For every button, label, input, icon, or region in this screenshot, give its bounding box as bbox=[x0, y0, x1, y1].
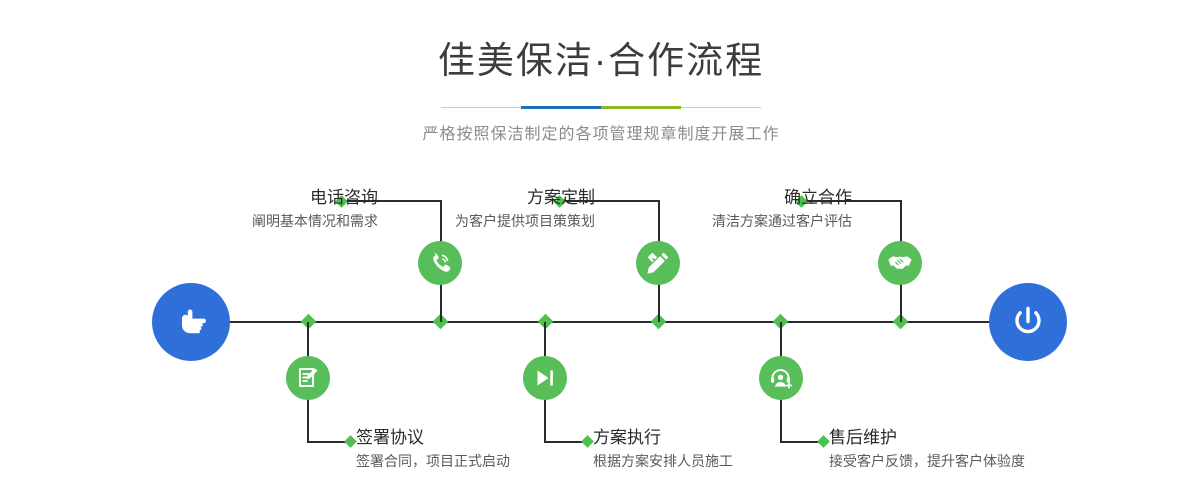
flow-end-node bbox=[989, 283, 1067, 361]
divider-segment-green bbox=[601, 106, 681, 109]
title-divider bbox=[441, 106, 761, 109]
step-title-3: 方案定制 bbox=[455, 188, 595, 208]
step-desc-2: 签署合同，项目正式启动 bbox=[356, 451, 510, 471]
step-title-1: 电话咨询 bbox=[252, 188, 378, 208]
step-desc-6: 接受客户反馈，提升客户体验度 bbox=[829, 451, 1025, 471]
step-label-6: 售后维护 接受客户反馈，提升客户体验度 bbox=[829, 428, 1025, 471]
step-title-4: 方案执行 bbox=[593, 428, 733, 448]
step-node-6[interactable] bbox=[759, 356, 803, 400]
step-node-2[interactable] bbox=[286, 356, 330, 400]
step-title-2: 签署协议 bbox=[356, 428, 510, 448]
step-label-1: 电话咨询 阐明基本情况和需求 bbox=[252, 188, 378, 231]
step-node-4[interactable] bbox=[523, 356, 567, 400]
play-execute-icon bbox=[532, 365, 558, 391]
step-node-1[interactable] bbox=[418, 241, 462, 285]
step-desc-3: 为客户提供项目策策划 bbox=[455, 211, 595, 231]
handshake-icon bbox=[886, 249, 914, 277]
step-node-5[interactable] bbox=[878, 241, 922, 285]
document-edit-icon bbox=[295, 365, 321, 391]
power-icon bbox=[1007, 301, 1049, 343]
step-label-2: 签署协议 签署合同，项目正式启动 bbox=[356, 428, 510, 471]
divider-segment-blue bbox=[521, 106, 601, 109]
step-label-4: 方案执行 根据方案安排人员施工 bbox=[593, 428, 733, 471]
step-desc-4: 根据方案安排人员施工 bbox=[593, 451, 733, 471]
customer-service-icon bbox=[768, 365, 794, 391]
step-desc-5: 清洁方案通过客户评估 bbox=[712, 211, 852, 231]
pencil-ruler-icon bbox=[645, 250, 671, 276]
header: 佳美保洁·合作流程 严格按照保洁制定的各项管理规章制度开展工作 bbox=[0, 0, 1202, 144]
step-title-5: 确立合作 bbox=[712, 188, 852, 208]
step-label-3: 方案定制 为客户提供项目策策划 bbox=[455, 188, 595, 231]
pointing-hand-icon bbox=[171, 302, 211, 342]
step-desc-1: 阐明基本情况和需求 bbox=[252, 211, 378, 231]
process-flow-infographic: 佳美保洁·合作流程 严格按照保洁制定的各项管理规章制度开展工作 bbox=[0, 0, 1202, 502]
flow-start-node bbox=[152, 283, 230, 361]
label-tip-diamond-step-6 bbox=[817, 435, 830, 448]
phone-call-icon bbox=[427, 250, 453, 276]
step-node-3[interactable] bbox=[636, 241, 680, 285]
label-tip-diamond-step-2 bbox=[344, 435, 357, 448]
timeline-axis bbox=[215, 321, 1000, 323]
step-label-5: 确立合作 清洁方案通过客户评估 bbox=[712, 188, 852, 231]
page-subtitle: 严格按照保洁制定的各项管理规章制度开展工作 bbox=[0, 120, 1202, 144]
label-tip-diamond-step-4 bbox=[581, 435, 594, 448]
page-title: 佳美保洁·合作流程 bbox=[0, 42, 1202, 79]
step-title-6: 售后维护 bbox=[829, 428, 1025, 448]
